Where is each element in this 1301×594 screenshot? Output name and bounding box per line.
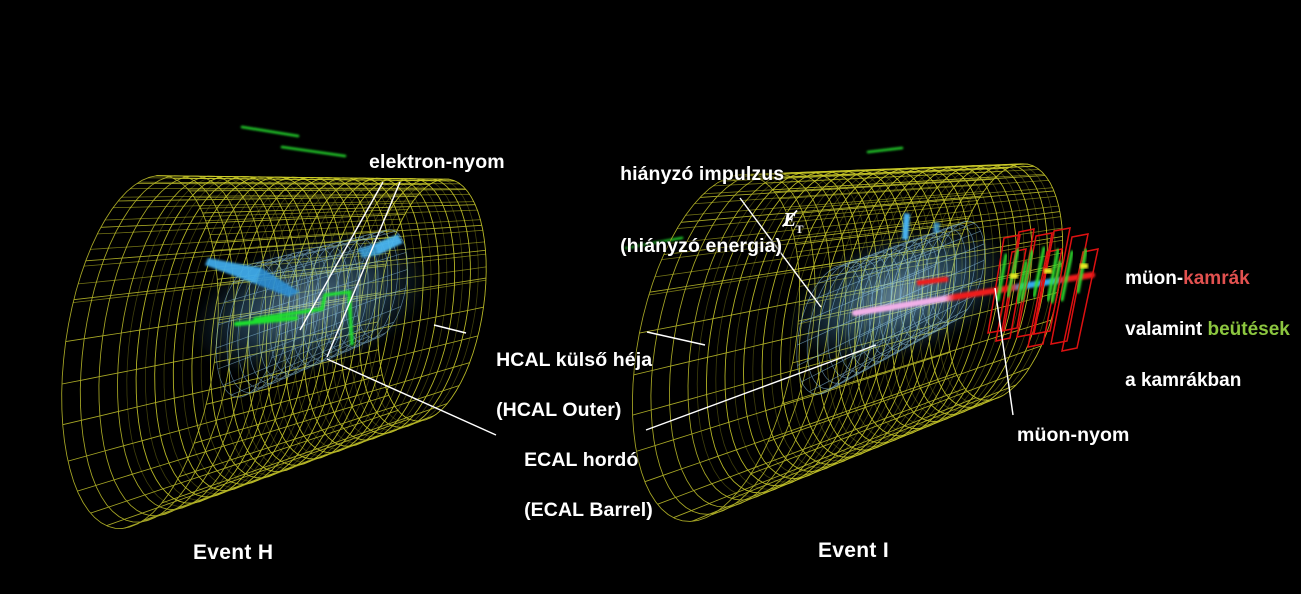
met-symbol-icon: E T — [782, 212, 804, 232]
legend-l1b: kamrák — [1183, 268, 1250, 289]
ecal-line-1: ECAL hordó — [524, 449, 638, 471]
svg-text:T: T — [796, 222, 804, 235]
event-h-detector — [62, 127, 487, 528]
label-ecal-barrel: ECAL hordó (ECAL Barrel) — [502, 423, 653, 548]
legend-l2a: valamint — [1125, 319, 1207, 340]
ecal-barrel-right — [775, 202, 1025, 394]
hcal-line-2: (HCAL Outer) — [496, 399, 621, 421]
label-muon-chambers-legend: müon-kamrák valamint beütések a kamrákba… — [1104, 240, 1290, 419]
stray-track-segments-left — [242, 127, 345, 156]
label-event-h: Event H — [193, 540, 273, 567]
hcal-line-1: HCAL külső héja — [496, 349, 652, 371]
legend-l2b: beütések — [1208, 319, 1290, 340]
legend-l1a: müon- — [1125, 268, 1183, 289]
met-line-2: (hiányzó energia) — [620, 235, 782, 257]
legend-l3a: a kamrákban — [1125, 370, 1241, 391]
label-event-i: Event I — [818, 538, 889, 565]
label-missing-momentum: hiányzó impulzus (hiányzó energia) E T — [598, 137, 804, 284]
ecal-line-2: (ECAL Barrel) — [524, 499, 653, 521]
event-display-canvas: elektron-nyom hiányzó impulzus (hiányzó … — [0, 0, 1301, 594]
met-line-1: hiányzó impulzus — [620, 163, 784, 185]
label-muon-track: müon-nyom — [1017, 423, 1129, 448]
label-electron-track: elektron-nyom — [369, 150, 505, 175]
